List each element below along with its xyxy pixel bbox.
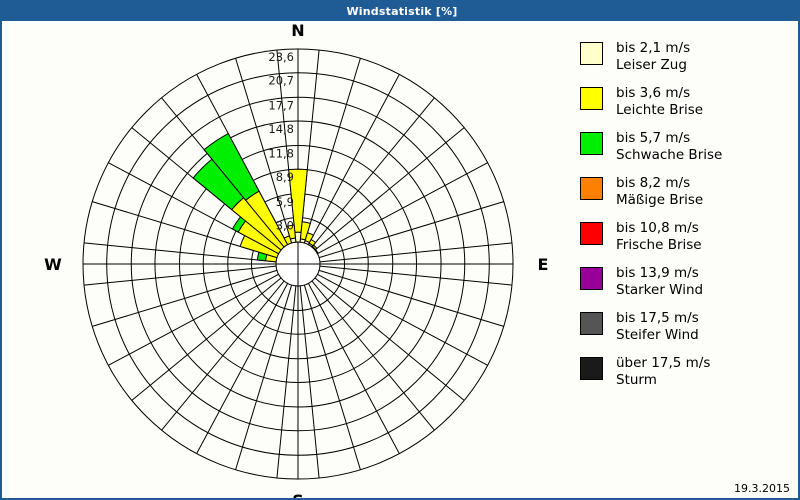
grid-spoke	[312, 281, 434, 430]
legend-item: bis 5,7 m/sSchwache Brise	[580, 130, 795, 164]
legend-name-label: Sturm	[616, 372, 710, 389]
legend-speed-label: bis 17,5 m/s	[616, 310, 699, 327]
legend-item: bis 10,8 m/sFrische Brise	[580, 220, 795, 254]
radial-tick-label: 11,8	[268, 147, 294, 161]
radial-tick-label: 20,7	[268, 74, 294, 88]
grid-spoke	[319, 270, 504, 326]
legend-speed-label: über 17,5 m/s	[616, 355, 710, 372]
grid-spoke	[317, 274, 487, 365]
grid-spoke	[304, 285, 360, 470]
compass-label-west: W	[44, 255, 62, 274]
compass-label-north: N	[291, 21, 304, 40]
grid-spoke	[315, 278, 464, 400]
window-title-bar: Windstatistik [%]	[2, 2, 800, 21]
legend-name-label: Starker Wind	[616, 282, 703, 299]
legend-item: bis 3,6 m/sLeichte Brise	[580, 85, 795, 119]
legend: bis 2,1 m/sLeiser Zugbis 3,6 m/sLeichte …	[580, 40, 795, 400]
legend-speed-label: bis 10,8 m/s	[616, 220, 702, 237]
radial-tick-label: 14,8	[268, 122, 294, 136]
wind-rose-plot: 3,05,98,911,814,817,720,723,6 N E S W	[2, 21, 562, 500]
legend-color-swatch	[580, 357, 603, 380]
legend-color-swatch	[580, 87, 603, 110]
window-title: Windstatistik [%]	[346, 5, 457, 18]
grid-spoke	[315, 128, 464, 250]
legend-color-swatch	[580, 312, 603, 335]
grid-spoke	[132, 278, 281, 400]
grid-spoke	[312, 98, 434, 247]
grid-spoke	[308, 74, 399, 244]
legend-speed-label: bis 2,1 m/s	[616, 40, 690, 57]
legend-speed-label: bis 8,2 m/s	[616, 175, 703, 192]
legend-item: bis 8,2 m/sMäßige Brise	[580, 175, 795, 209]
legend-color-swatch	[580, 222, 603, 245]
grid-spoke	[197, 283, 288, 453]
windstatistik-window: Windstatistik [%] 3,05,98,911,814,817,72…	[0, 0, 800, 500]
radial-tick-labels: 3,05,98,911,814,817,720,723,6	[268, 50, 294, 232]
grid-spoke	[319, 202, 504, 258]
grid-spoke	[236, 285, 292, 470]
legend-name-label: Leichte Brise	[616, 102, 703, 119]
compass-label-south: S	[292, 491, 304, 500]
legend-name-label: Schwache Brise	[616, 147, 722, 164]
legend-name-label: Mäßige Brise	[616, 192, 703, 209]
grid-spoke	[317, 163, 487, 254]
grid-spoke	[92, 270, 277, 326]
polar-grid	[83, 49, 513, 479]
grid-spoke	[304, 58, 360, 243]
legend-name-label: Leiser Zug	[616, 57, 690, 74]
radial-tick-label: 5,9	[276, 195, 294, 209]
radial-tick-label: 8,9	[276, 170, 294, 184]
legend-name-label: Steifer Wind	[616, 327, 699, 344]
grid-spoke	[108, 274, 278, 365]
legend-item: bis 17,5 m/sSteifer Wind	[580, 310, 795, 344]
grid-spoke	[308, 283, 399, 453]
legend-speed-label: bis 5,7 m/s	[616, 130, 722, 147]
radial-tick-label: 17,7	[268, 98, 294, 112]
legend-name-label: Frische Brise	[616, 237, 702, 254]
legend-item: bis 13,9 m/sStarker Wind	[580, 265, 795, 299]
grid-spoke	[162, 281, 284, 430]
legend-color-swatch	[580, 132, 603, 155]
radial-tick-label: 3,0	[276, 218, 294, 232]
legend-item: bis 2,1 m/sLeiser Zug	[580, 40, 795, 74]
compass-label-east: E	[538, 255, 549, 274]
wind-rose-svg: 3,05,98,911,814,817,720,723,6 N E S W	[2, 21, 562, 500]
radial-tick-label: 23,6	[268, 50, 294, 64]
legend-speed-label: bis 13,9 m/s	[616, 265, 703, 282]
date-stamp: 19.3.2015	[734, 482, 790, 495]
legend-item: über 17,5 m/sSturm	[580, 355, 795, 389]
legend-color-swatch	[580, 42, 603, 65]
legend-color-swatch	[580, 267, 603, 290]
legend-color-swatch	[580, 177, 603, 200]
legend-speed-label: bis 3,6 m/s	[616, 85, 703, 102]
